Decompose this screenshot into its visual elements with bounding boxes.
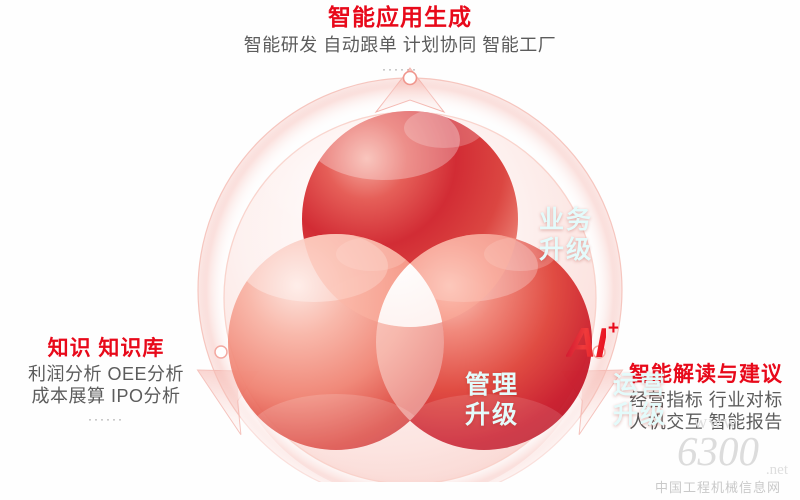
watermark-chinese: 中国工程机械信息网 [636, 479, 800, 497]
ai-text: AI [566, 319, 606, 366]
sphere-top-label-line2: 升级 [506, 235, 626, 265]
ai-plus-mark: AI + [536, 320, 636, 374]
sphere-left-label-line1: 管理 [432, 370, 552, 400]
ring-node-left[interactable] [215, 346, 227, 358]
watermark: www. 6300 .net 中国工程机械信息网 [636, 416, 800, 496]
sphere-left-label-line2: 升级 [432, 400, 552, 430]
canvas: 智能应用生成 智能研发 自动跟单 计划协同 智能工厂 ······ 知识 知识库… [0, 0, 800, 500]
top-line-1: 智能研发 自动跟单 计划协同 智能工厂 [0, 32, 800, 59]
sphere-top-label-line1: 业务 [506, 205, 626, 235]
venn-diagram: 业务 升级 管理 升级 运营 升级 AI + [176, 62, 644, 482]
sphere-left-label: 管理 升级 [432, 370, 552, 430]
venn-svg [176, 62, 644, 482]
top-heading: 智能应用生成 [0, 2, 800, 32]
sphere-top-label: 业务 升级 [506, 205, 626, 265]
ai-plus-superscript: + [608, 318, 619, 340]
sphere-right-label-line1: 运营 [580, 370, 700, 400]
ring-node-top[interactable] [404, 72, 417, 85]
